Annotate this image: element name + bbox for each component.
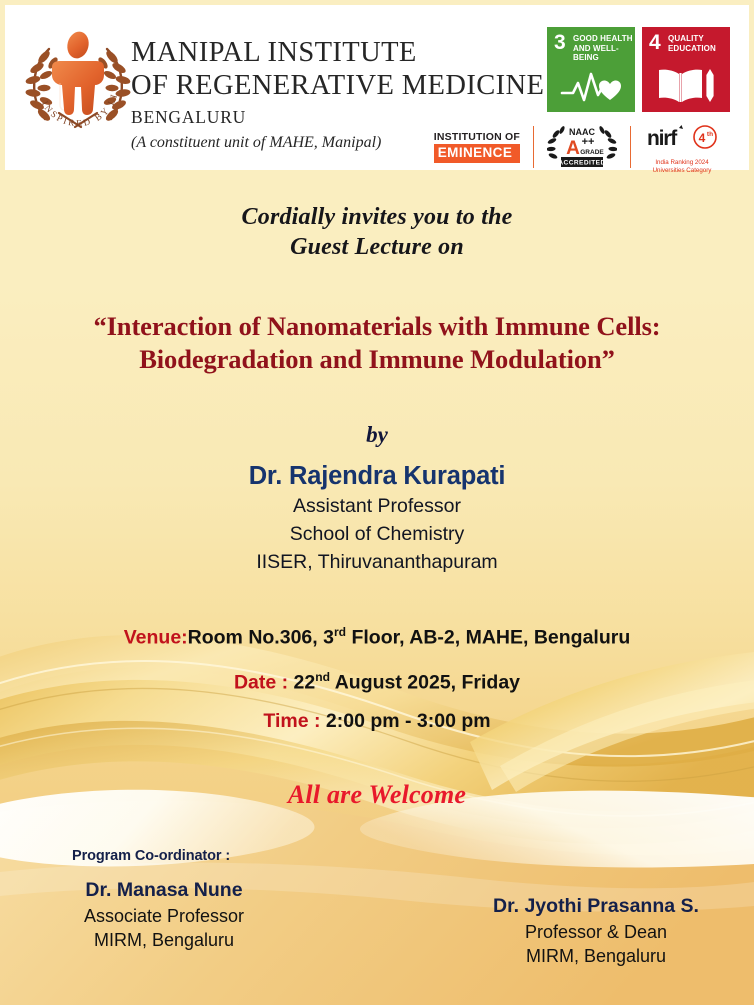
institution-header: INSPIRED BY LIFE MANIPAL INSTITUTE OF RE… — [5, 5, 749, 170]
lecture-title-line-1: “Interaction of Nanomaterials with Immun… — [26, 310, 728, 343]
institute-name-line1: MANIPAL INSTITUTE — [131, 36, 544, 69]
svg-text:++: ++ — [582, 136, 595, 148]
institute-name-line2: OF REGENERATIVE MEDICINE — [131, 69, 544, 102]
speaker-designation: Assistant Professor — [0, 494, 754, 519]
all-are-welcome-text: All are Welcome — [0, 780, 754, 810]
svg-text:GRADE: GRADE — [580, 149, 604, 156]
manipal-crest-logo: INSPIRED BY LIFE — [19, 23, 137, 143]
date-value-post: August 2025, Friday — [330, 671, 520, 693]
sdg-4-number: 4 — [649, 32, 661, 53]
svg-text:nirf: nirf — [647, 127, 678, 150]
speaker-department: School of Chemistry — [0, 522, 754, 547]
time-row: Time : 2:00 pm - 3:00 pm — [0, 708, 754, 734]
ioe-bottom-label: EMINENCE — [434, 144, 520, 163]
time-value: 2:00 pm - 3:00 pm — [320, 710, 490, 732]
invitation-line-2: Guest Lecture on — [0, 232, 754, 262]
date-row: Date : 22nd August 2025, Friday — [0, 664, 754, 696]
venue-value-ordinal: rd — [334, 625, 346, 639]
coordinator-name: Dr. Manasa Nune — [34, 877, 294, 904]
speaker-name: Dr. Rajendra Kurapati — [0, 461, 754, 491]
sdg-badge-row: 3 GOOD HEALTH AND WELL-BEING 4 QUALITY E… — [547, 27, 730, 112]
event-details: Venue:Room No.306, 3rd Floor, AB-2, MAHE… — [0, 619, 754, 734]
by-label: by — [0, 422, 754, 448]
speaker-block: Dr. Rajendra Kurapati Assistant Professo… — [0, 461, 754, 575]
sdg-badge-3-good-health: 3 GOOD HEALTH AND WELL-BEING — [547, 27, 635, 112]
invitation-line-1: Cordially invites you to the — [0, 202, 754, 232]
institution-of-eminence-badge: INSTITUTION OF EMINENCE — [421, 124, 533, 170]
svg-text:A: A — [566, 138, 580, 159]
open-book-pencil-icon — [642, 66, 730, 106]
poster-body: Cordially invites you to the Guest Lectu… — [0, 170, 754, 810]
date-value-ordinal: nd — [315, 670, 330, 684]
venue-row: Venue:Room No.306, 3rd Floor, AB-2, MAHE… — [0, 619, 754, 651]
lecture-title: “Interaction of Nanomaterials with Immun… — [0, 310, 754, 376]
sdg-3-number: 3 — [554, 32, 566, 53]
dean-block: Dr. Jyothi Prasanna S. Professor & Dean … — [456, 880, 736, 968]
svg-text:th: th — [707, 131, 713, 138]
heartbeat-heart-icon — [547, 70, 635, 106]
dean-name: Dr. Jyothi Prasanna S. — [456, 893, 736, 920]
sdg-3-caption: GOOD HEALTH AND WELL-BEING — [573, 34, 635, 63]
naac-a-plus-plus-badge: NAAC A ++ GRADE ACCREDITED — [534, 124, 630, 170]
sdg-4-caption: QUALITY EDUCATION — [668, 34, 716, 53]
lecture-title-line-2: Biodegradation and Immune Modulation” — [26, 343, 728, 376]
venue-value-pre: Room No.306, 3 — [188, 627, 334, 649]
svg-text:ACCREDITED: ACCREDITED — [558, 160, 605, 167]
speaker-institute: IISER, Thiruvananthapuram — [0, 550, 754, 575]
dean-institute: MIRM, Bengaluru — [456, 944, 736, 968]
svg-text:4: 4 — [699, 131, 706, 145]
dean-designation: Professor & Dean — [456, 920, 736, 944]
ioe-top-label: INSTITUTION OF — [434, 132, 520, 143]
nirf-subtitle-1: India Ranking 2024 — [644, 159, 720, 167]
sdg-badge-4-quality-education: 4 QUALITY EDUCATION — [642, 27, 730, 112]
time-label: Time : — [263, 710, 320, 732]
date-value-pre: 22 — [288, 671, 315, 693]
coordinator-designation: Associate Professor — [34, 904, 294, 928]
accreditation-strip: INSTITUTION OF EMINENCE — [421, 123, 733, 171]
poster-canvas: INSPIRED BY LIFE MANIPAL INSTITUTE OF RE… — [0, 0, 754, 1005]
venue-value-post: Floor, AB-2, MAHE, Bengaluru — [346, 627, 630, 649]
invitation-block: Cordially invites you to the Guest Lectu… — [0, 202, 754, 262]
nirf-ranking-badge: nirf 4 th India Ranking 2024 Universitie… — [631, 124, 733, 170]
coordinator-institute: MIRM, Bengaluru — [34, 928, 294, 952]
program-coordinator-label: Program Co-ordinator : — [34, 848, 294, 864]
date-label: Date : — [234, 671, 288, 693]
venue-label: Venue: — [124, 627, 188, 649]
program-coordinator-block: Program Co-ordinator : Dr. Manasa Nune A… — [34, 848, 294, 952]
